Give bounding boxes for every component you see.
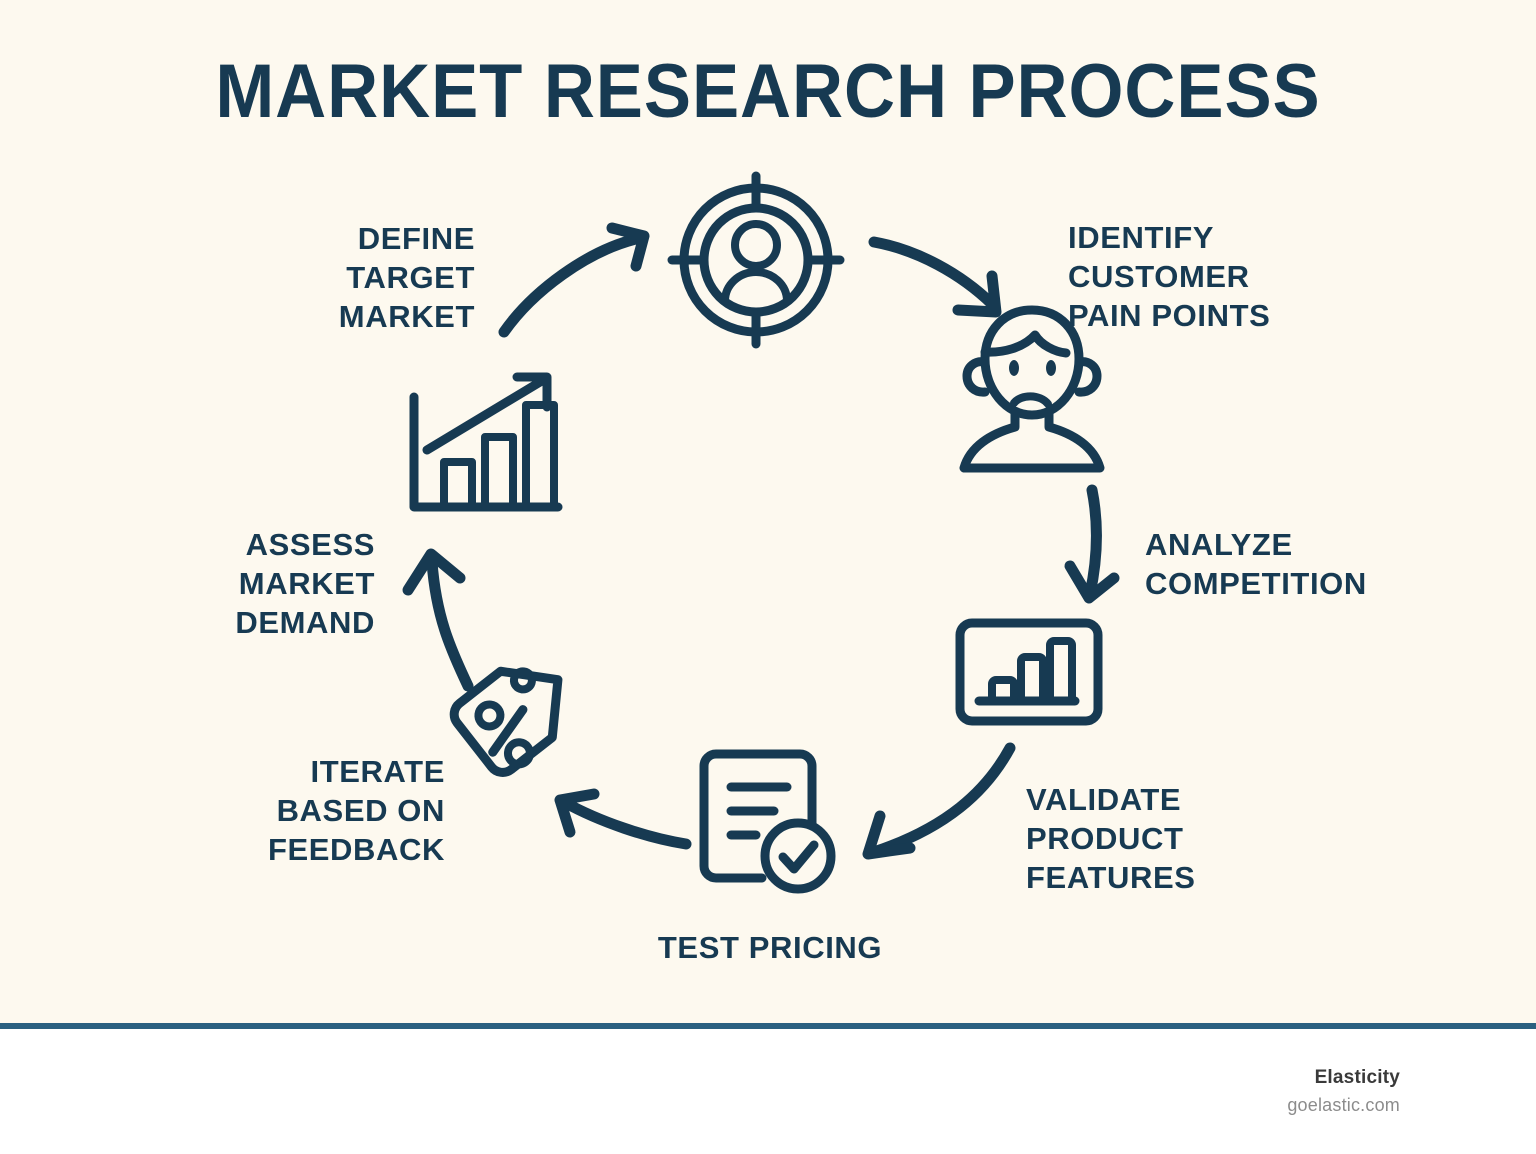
poster-canvas: MARKET RESEARCH PROCESS <box>0 0 1536 1023</box>
target-person-icon <box>668 172 844 348</box>
arrow-to-define <box>492 222 662 340</box>
footer-brand-name: Elasticity <box>1315 1067 1400 1089</box>
arrow-to-assess <box>402 540 494 690</box>
step-label-assess-market-demand: ASSESS MARKET DEMAND <box>140 525 375 642</box>
arrow-to-iterate <box>552 782 694 862</box>
footer: Elasticity goelastic.com <box>0 1029 1536 1154</box>
document-check-icon <box>694 746 840 898</box>
step-label-define-target-market: DEFINE TARGET MARKET <box>170 219 475 336</box>
arrow-to-validate <box>852 740 1020 864</box>
arrow-to-identify <box>866 232 1026 342</box>
arrow-to-analyze <box>1062 482 1152 608</box>
step-label-analyze-competition: ANALYZE COMPETITION <box>1145 525 1465 603</box>
step-label-test-pricing: TEST PRICING <box>560 928 980 967</box>
step-label-iterate-feedback: ITERATE BASED ON FEEDBACK <box>160 752 445 869</box>
page-title: MARKET RESEARCH PROCESS <box>54 48 1482 135</box>
footer-website-url: goelastic.com <box>1287 1095 1400 1116</box>
step-label-identify-pain-points: IDENTIFY CUSTOMER PAIN POINTS <box>1068 218 1398 335</box>
growth-chart-icon <box>402 365 566 527</box>
infographic-poster: MARKET RESEARCH PROCESS <box>0 0 1536 1154</box>
bar-chart-frame-icon <box>955 618 1103 726</box>
step-label-validate-product: VALIDATE PRODUCT FEATURES <box>1026 780 1346 897</box>
